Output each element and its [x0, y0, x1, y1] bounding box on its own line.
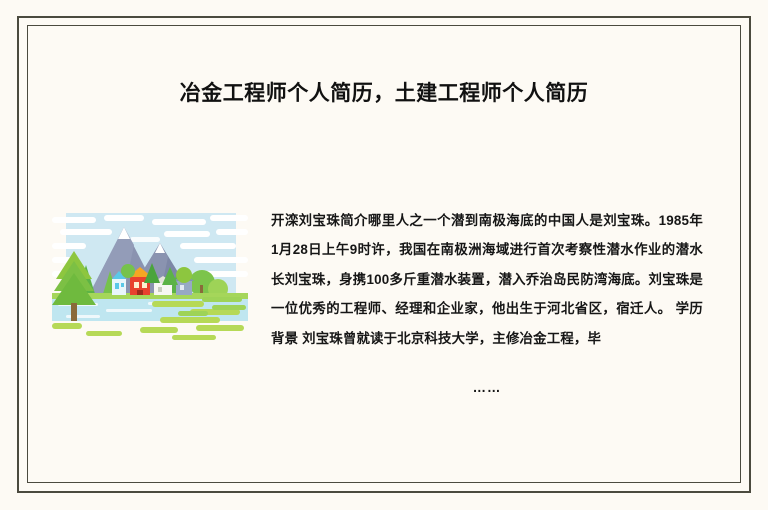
- truncation-ellipsis: ……: [271, 380, 703, 395]
- mountain-lake-village-illustration: [52, 205, 248, 341]
- article-body: 开滦刘宝珠简介哪里人之一个潜到南极海底的中国人是刘宝珠。1985年1月28日上午…: [271, 206, 703, 353]
- page-canvas: 冶金工程师个人简历，土建工程师个人简历: [0, 0, 768, 510]
- page-title: 冶金工程师个人简历，土建工程师个人简历: [0, 78, 768, 110]
